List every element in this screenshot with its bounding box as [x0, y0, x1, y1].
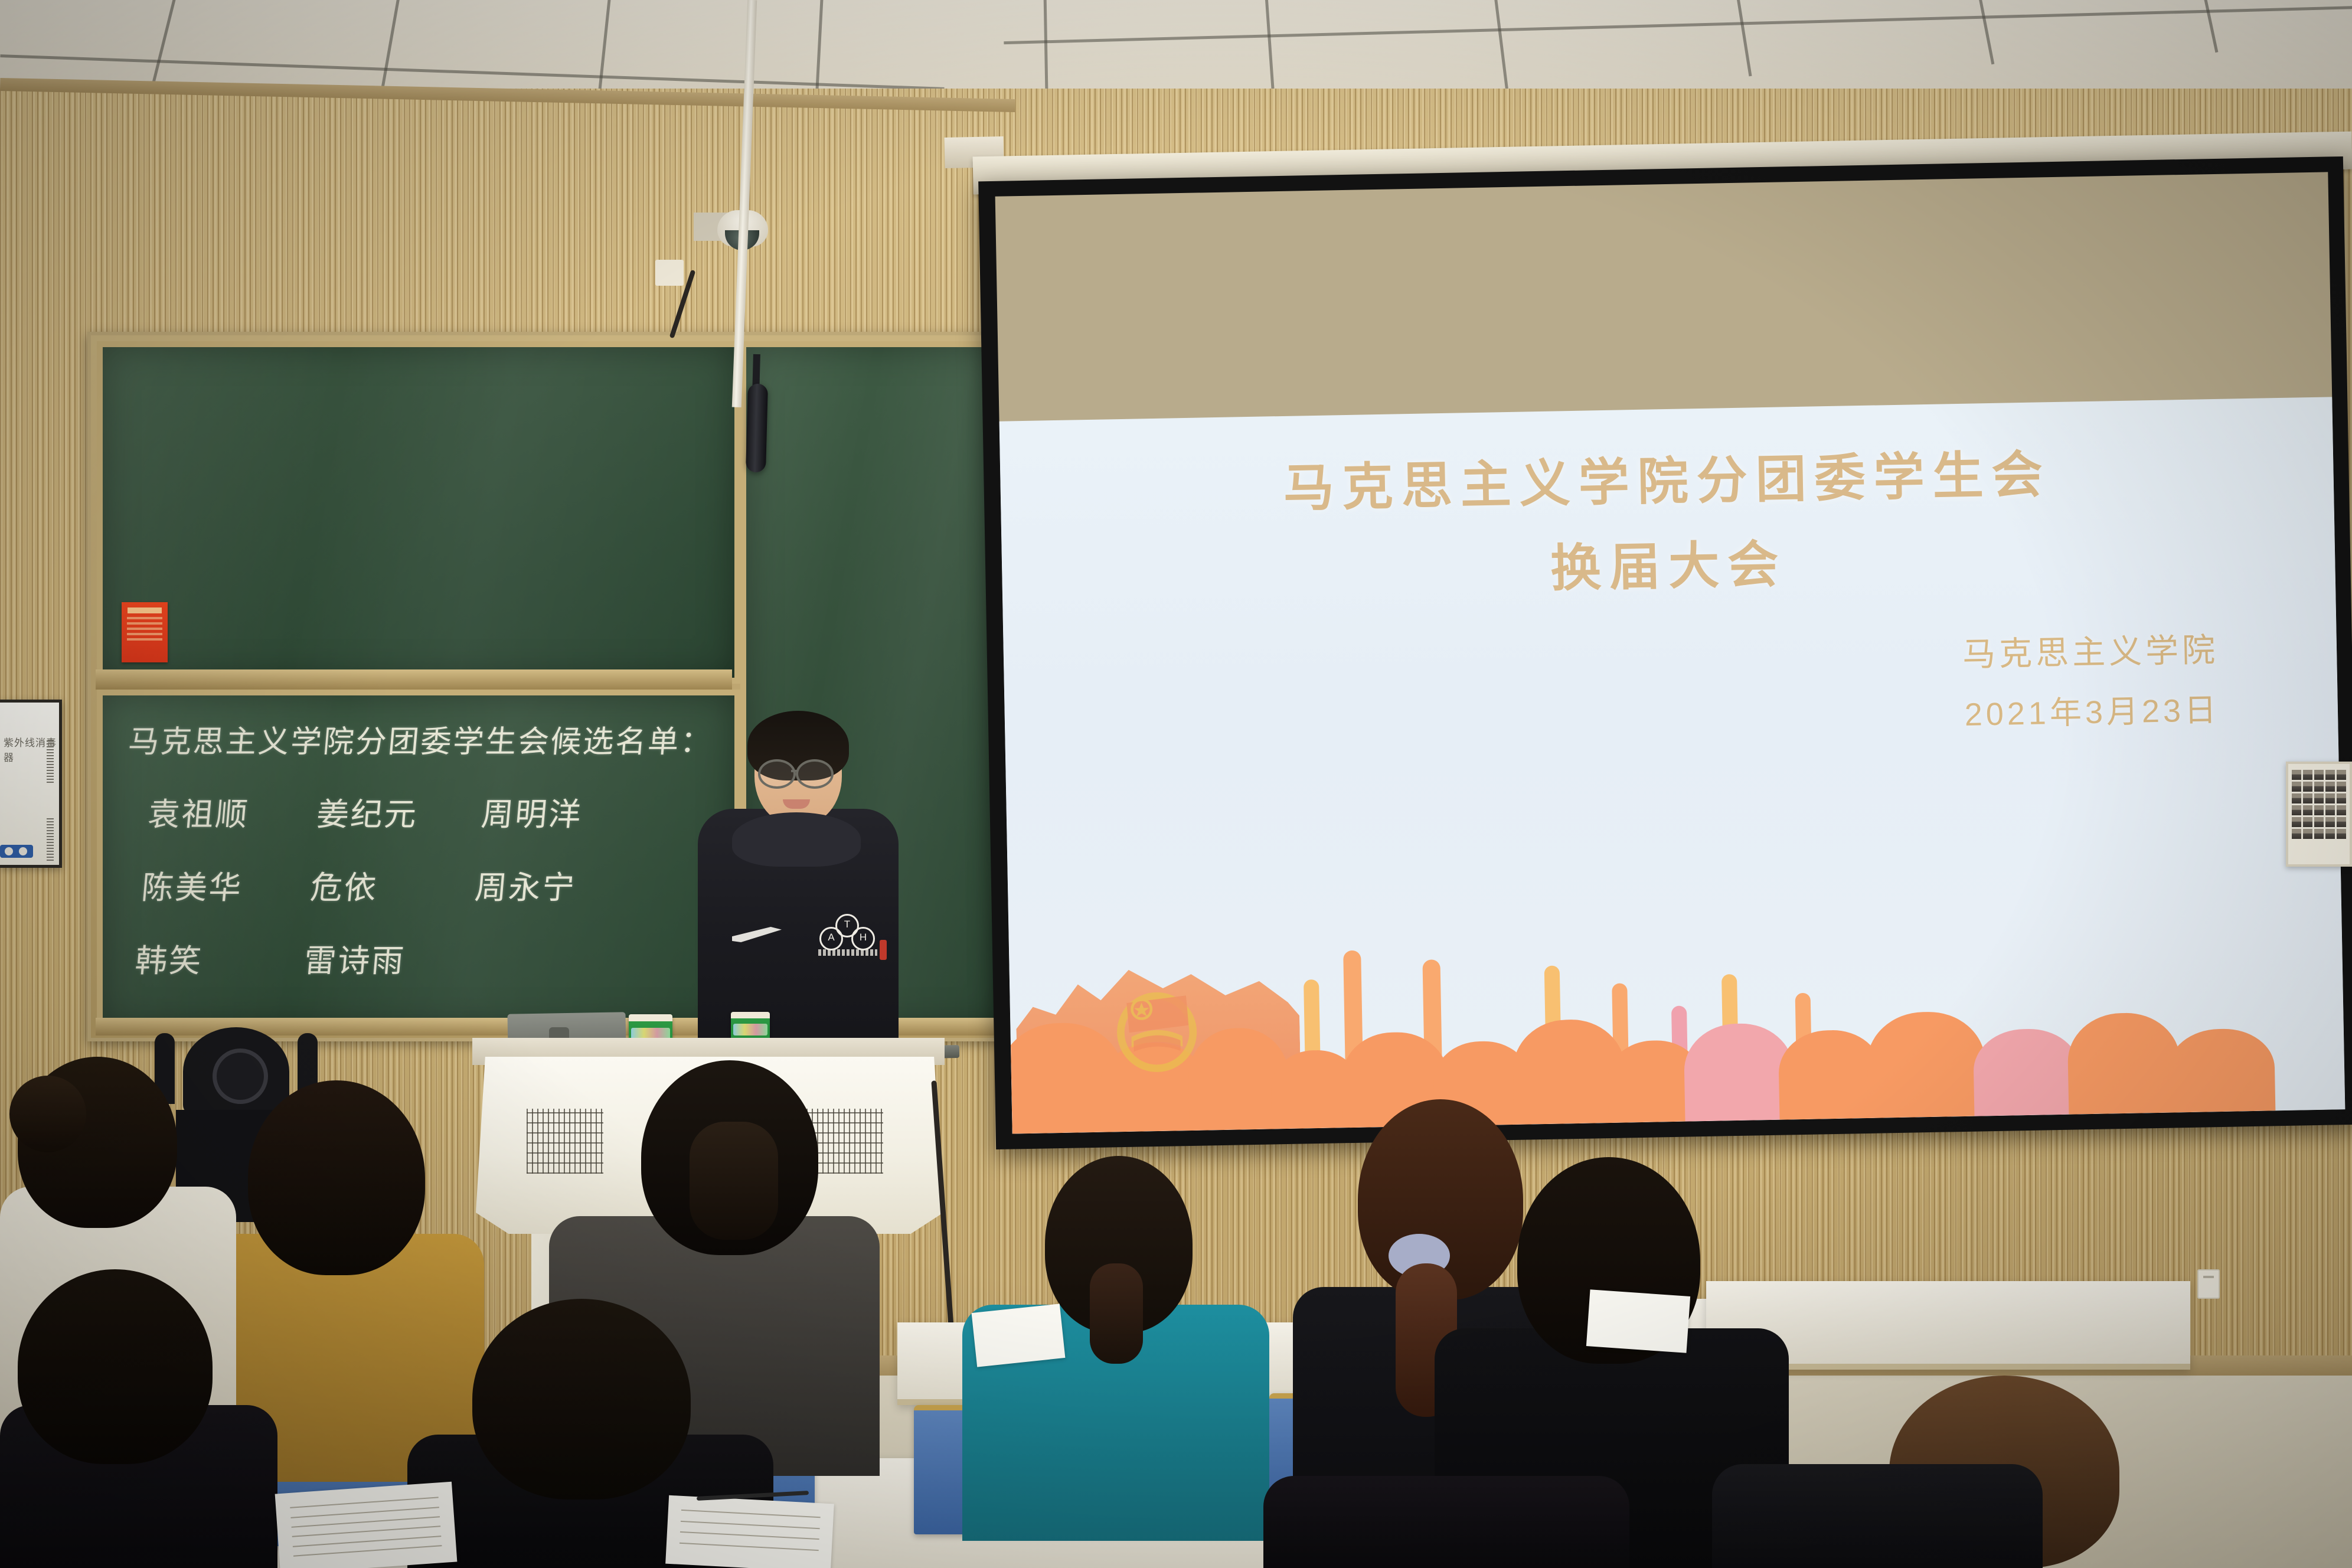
speaker-at-podium: A T H	[685, 708, 909, 1074]
sterilizer-vent-icon	[47, 740, 54, 783]
projector-screen: 马克思主义学院分团委学生会 换届大会 马克思主义学院 2021年3月23日	[978, 156, 2352, 1149]
hair-ponytail	[1090, 1263, 1143, 1364]
document-paper[interactable]	[665, 1495, 834, 1568]
screen-surface: 马克思主义学院分团委学生会 换届大会 马克思主义学院 2021年3月23日	[995, 172, 2346, 1133]
sterilizer-vent-icon	[47, 818, 54, 861]
candidate-column-3: 周明洋 周永宁	[472, 778, 586, 925]
ballot-paper[interactable]	[1586, 1289, 1690, 1353]
document-paper[interactable]	[275, 1482, 458, 1568]
glasses-bridge-icon	[791, 770, 798, 772]
slide-title-line-1: 马克思主义学院分团委学生会	[1000, 427, 2334, 525]
hanging-shotgun-microphone	[746, 384, 768, 473]
blackboard-heading: 马克思主义学院分团委学生会候选名单：	[127, 717, 716, 761]
wall-sterilizer-unit[interactable]: 紫外线消毒器	[0, 700, 62, 868]
red-notice-card	[122, 602, 168, 662]
audience-head	[472, 1299, 691, 1500]
hair-bun	[9, 1076, 86, 1152]
candidate-column-2: 姜纪元 危依 雷诗雨	[301, 778, 422, 998]
blackboard-panel-lower: 马克思主义学院分团委学生会候选名单： 袁祖顺 陈美华 韩笑 姜纪元 危依 雷诗雨…	[97, 690, 740, 1032]
wall-photo-poster	[2286, 762, 2352, 867]
ballot-paper[interactable]	[972, 1304, 1066, 1367]
logo-letter-h: H	[851, 927, 875, 950]
communist-youth-league-emblem	[1103, 969, 1211, 1077]
slide-title-line-2: 换届大会	[1001, 512, 2335, 610]
presentation-slide: 马克思主义学院分团委学生会 换届大会 马克思主义学院 2021年3月23日	[999, 397, 2346, 1133]
chest-logo-ath: A T H	[819, 914, 874, 949]
slide-organization: 马克思主义学院	[1962, 623, 2219, 676]
audience-head	[18, 1269, 213, 1464]
chalk-tray-middle	[96, 669, 732, 690]
candidate-column-1: 袁祖顺 陈美华 韩笑	[132, 778, 253, 998]
audience-person	[1712, 1464, 2043, 1568]
sterilizer-buttons[interactable]	[0, 845, 33, 858]
slide-crowd-illustration	[1009, 909, 2346, 1133]
wall-power-socket	[2197, 1269, 2220, 1299]
slide-date: 2021年3月23日	[1964, 684, 2220, 735]
wall-power-socket	[655, 260, 684, 286]
hood-collar	[732, 812, 861, 867]
blackboard-panel-upper	[97, 341, 740, 684]
audience-person	[1263, 1476, 1629, 1568]
glasses-lens-right	[796, 759, 834, 789]
hair-bun	[690, 1122, 778, 1240]
glasses-lens-left	[758, 759, 796, 789]
chest-logo-subtext	[818, 949, 877, 956]
sleeve-accent-stripe	[880, 940, 887, 960]
audience-head	[248, 1080, 425, 1275]
classroom-photo-scene: 马克思主义学院分团委学生会候选名单： 袁祖顺 陈美华 韩笑 姜纪元 危依 雷诗雨…	[0, 0, 2352, 1568]
